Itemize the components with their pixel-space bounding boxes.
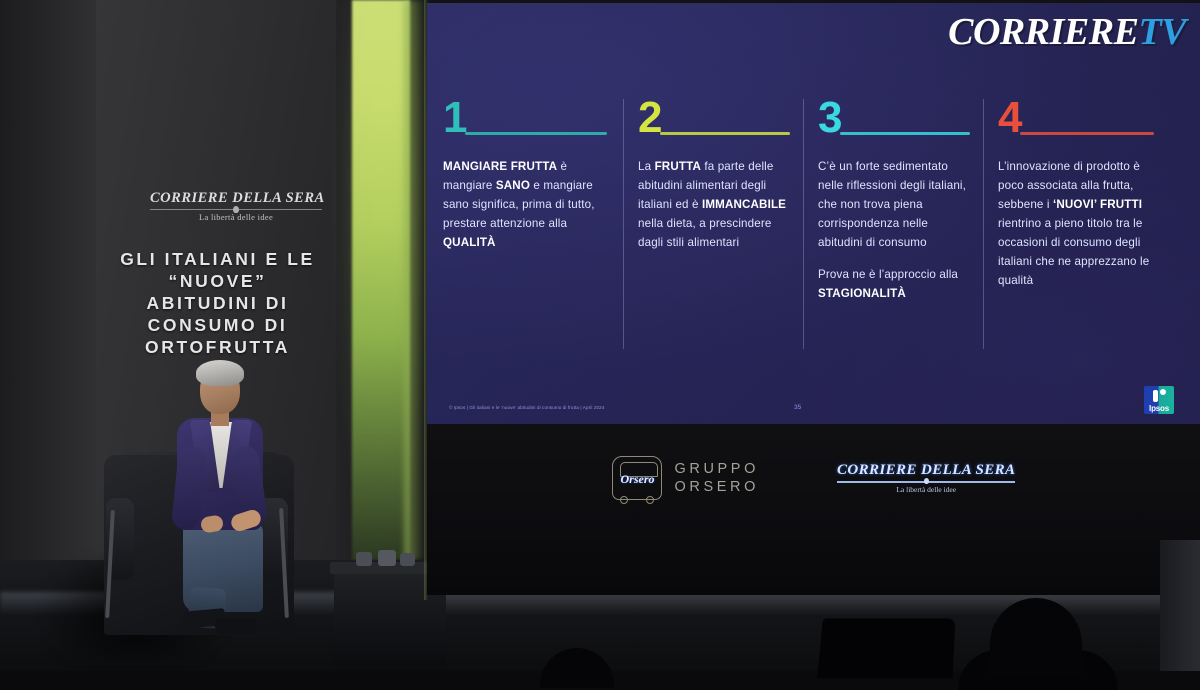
green-light-column [352, 0, 410, 560]
cds-masthead: CORRIERE DELLA SERA [837, 462, 1016, 479]
wall-masthead-rule [150, 209, 322, 210]
wall-tagline: La libertà delle idee [150, 212, 322, 222]
column-rule-4 [1020, 132, 1154, 135]
orsero-wheel-left-icon [620, 496, 628, 504]
takeaway-column-1: 1 MANGIARE FRUTTA è mangiare SANO e mang… [443, 99, 623, 349]
orsero-truck-icon: Orsero [612, 456, 662, 500]
studio-stage: CORRIERE DELLA SERA La libertà delle ide… [0, 0, 1200, 671]
speaker-person [155, 360, 285, 625]
slide-canvas: CORRIERETV 1 MANGIARE FRUTTA è mangiare … [427, 3, 1200, 424]
slide-page-number: 35 [794, 404, 801, 411]
slide-source-note: © Ipsos | Gli italiani e le ‘nuove’ abit… [449, 405, 604, 410]
room-right-wall [1160, 540, 1200, 671]
column-paragraph: L’innovazione di prodotto è poco associa… [998, 157, 1155, 290]
takeaway-column-4: 4 L’innovazione di prodotto è poco assoc… [983, 99, 1163, 349]
speaker-shoe-right [215, 618, 257, 634]
ipsos-logo: Ipsos [1144, 386, 1174, 414]
corriere-tv-suffix: TV [1138, 11, 1186, 53]
orsero-wordmark-line2: ORSERO [675, 478, 759, 496]
table-prop-2 [378, 550, 396, 566]
ipsos-mark-dot [1160, 389, 1166, 395]
speaker-hair [196, 360, 244, 386]
audience-laptop [817, 618, 955, 678]
wall-event-title: GLI ITALIANI E LE “NUOVE” ABITUDINI DI C… [110, 248, 325, 358]
column-paragraph: MANGIARE FRUTTA è mangiare SANO e mangia… [443, 157, 615, 252]
column-rule-1 [465, 132, 607, 135]
orsero-script-word: Orsero [617, 472, 659, 487]
cds-rule [837, 481, 1016, 483]
orsero-wheel-right-icon [646, 496, 654, 504]
takeaway-column-3: 3 C’è un forte sedimentato nelle rifless… [803, 99, 983, 349]
presentation-screen: CORRIERETV 1 MANGIARE FRUTTA è mangiare … [427, 3, 1200, 595]
column-rule-2 [660, 132, 790, 135]
column-rule-3 [840, 132, 970, 135]
wall-brand-block: CORRIERE DELLA SERA La libertà delle ide… [150, 190, 322, 222]
wall-masthead: CORRIERE DELLA SERA [150, 190, 322, 207]
orsero-wordmark: GRUPPO ORSERO [675, 460, 759, 496]
table-prop-3 [400, 553, 415, 566]
ipsos-mark-bar [1153, 390, 1158, 402]
table-prop-1 [356, 552, 372, 566]
stage-wall-shadow [0, 0, 96, 600]
cds-tagline: La libertà delle idee [837, 485, 1016, 494]
corriere-tv-word: CORRIERE [948, 11, 1138, 53]
ipsos-wordmark: Ipsos [1149, 403, 1169, 414]
gruppo-orsero-logo: Orsero GRUPPO ORSERO [612, 456, 759, 500]
orsero-wordmark-line1: GRUPPO [675, 460, 759, 478]
slide-footer: © Ipsos | Gli italiani e le ‘nuove’ abit… [449, 405, 1169, 410]
takeaway-column-2: 2 La FRUTTA fa parte delle abitudini ali… [623, 99, 803, 349]
column-paragraph: La FRUTTA fa parte delle abitudini alime… [638, 157, 795, 252]
column-paragraph: C’è un forte sedimentato nelle riflessio… [818, 157, 975, 252]
column-body-1: MANGIARE FRUTTA è mangiare SANO e mangia… [443, 157, 615, 252]
corriere-della-sera-logo: CORRIERE DELLA SERA La libertà delle ide… [837, 462, 1016, 494]
column-body-4: L’innovazione di prodotto è poco associa… [998, 157, 1155, 290]
takeaway-columns: 1 MANGIARE FRUTTA è mangiare SANO e mang… [443, 99, 1185, 349]
column-body-3: C’è un forte sedimentato nelle riflessio… [818, 157, 975, 303]
column-body-2: La FRUTTA fa parte delle abitudini alime… [638, 157, 795, 252]
column-paragraph: Prova ne è l’approccio alla STAGIONALITÀ [818, 265, 975, 303]
sponsor-logo-row: Orsero GRUPPO ORSERO CORRIERE DELLA SERA… [427, 433, 1200, 523]
green-light-edge [404, 0, 426, 560]
corriere-tv-logo: CORRIERETV [948, 13, 1186, 51]
